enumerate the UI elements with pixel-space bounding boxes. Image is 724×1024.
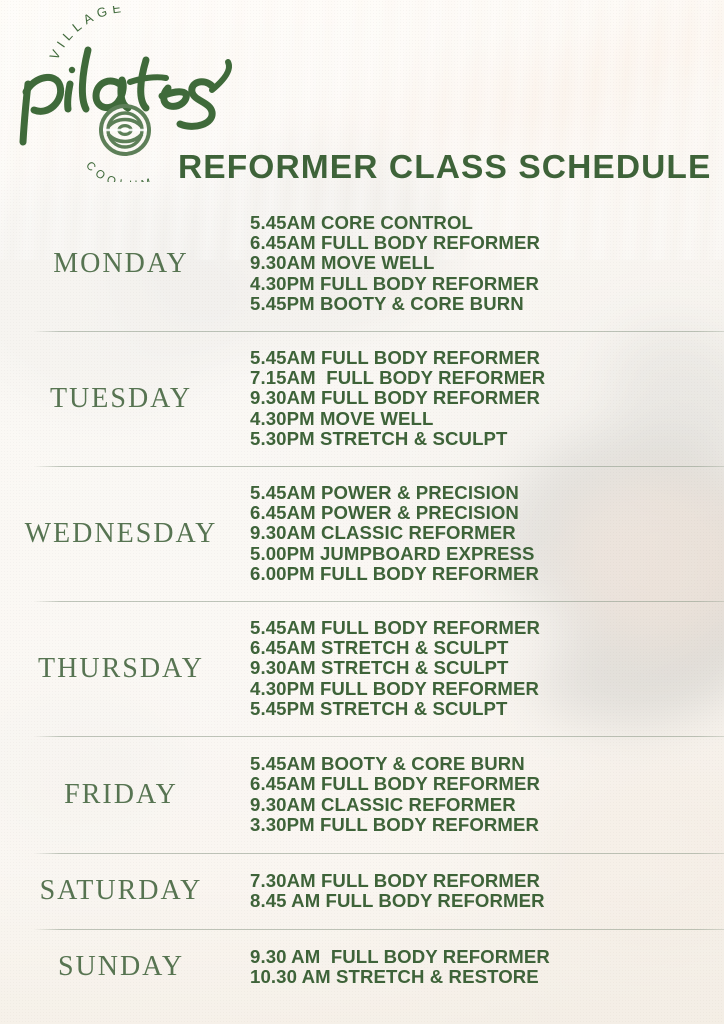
day-label: WEDNESDAY [0, 518, 242, 550]
row-divider [33, 853, 724, 854]
class-entry: 9.30AM CLASSIC REFORMER [250, 523, 724, 543]
row-divider [33, 601, 724, 602]
class-entry: 6.45AM FULL BODY REFORMER [250, 774, 724, 794]
class-entry: 5.00PM JUMPBOARD EXPRESS [250, 544, 724, 564]
class-entry: 6.45AM STRETCH & SCULPT [250, 638, 724, 658]
class-entry: 9.30 AM FULL BODY REFORMER [250, 947, 724, 967]
class-entry: 3.30PM FULL BODY REFORMER [250, 815, 724, 835]
class-list: 5.45AM CORE CONTROL6.45AM FULL BODY REFO… [242, 213, 724, 314]
day-label: THURSDAY [0, 653, 242, 685]
class-entry: 7.15AM FULL BODY REFORMER [250, 368, 724, 388]
day-label: FRIDAY [0, 779, 242, 811]
logo-script-wordmark [23, 50, 229, 142]
class-list: 5.45AM FULL BODY REFORMER6.45AM STRETCH … [242, 618, 724, 719]
class-list: 5.45AM BOOTY & CORE BURN6.45AM FULL BODY… [242, 754, 724, 835]
class-list: 5.45AM FULL BODY REFORMER7.15AM FULL BOD… [242, 348, 724, 449]
class-entry: 5.45AM FULL BODY REFORMER [250, 348, 724, 368]
day-row: WEDNESDAY5.45AM POWER & PRECISION6.45AM … [0, 466, 724, 601]
class-list: 9.30 AM FULL BODY REFORMER10.30 AM STRET… [242, 947, 724, 987]
day-label: SUNDAY [0, 951, 242, 983]
day-label: MONDAY [0, 248, 242, 280]
day-label: SATURDAY [0, 875, 242, 907]
class-entry: 5.45AM POWER & PRECISION [250, 483, 724, 503]
class-list: 7.30AM FULL BODY REFORMER8.45 AM FULL BO… [242, 871, 724, 911]
class-entry: 4.30PM FULL BODY REFORMER [250, 679, 724, 699]
class-entry: 9.30AM MOVE WELL [250, 253, 724, 273]
day-row: SATURDAY7.30AM FULL BODY REFORMER8.45 AM… [0, 853, 724, 929]
row-divider [33, 736, 724, 737]
schedule-poster: VILLAGE [0, 0, 724, 1024]
day-label: TUESDAY [0, 383, 242, 415]
day-row: SUNDAY9.30 AM FULL BODY REFORMER10.30 AM… [0, 929, 724, 1005]
day-row: THURSDAY5.45AM FULL BODY REFORMER6.45AM … [0, 601, 724, 736]
class-entry: 6.45AM POWER & PRECISION [250, 503, 724, 523]
day-row: TUESDAY5.45AM FULL BODY REFORMER7.15AM F… [0, 331, 724, 466]
logo-eye-emblem [101, 106, 149, 154]
class-entry: 5.45AM BOOTY & CORE BURN [250, 754, 724, 774]
class-entry: 7.30AM FULL BODY REFORMER [250, 871, 724, 891]
class-entry: 5.30PM STRETCH & SCULPT [250, 429, 724, 449]
class-entry: 5.45AM CORE CONTROL [250, 213, 724, 233]
class-entry: 4.30PM FULL BODY REFORMER [250, 274, 724, 294]
logo-bottom-arc-text: COOLUM [83, 160, 156, 182]
schedule-table: MONDAY5.45AM CORE CONTROL6.45AM FULL BOD… [0, 196, 724, 1005]
class-entry: 5.45PM STRETCH & SCULPT [250, 699, 724, 719]
class-entry: 9.30AM STRETCH & SCULPT [250, 658, 724, 678]
row-divider [33, 331, 724, 332]
class-entry: 9.30AM CLASSIC REFORMER [250, 795, 724, 815]
class-list: 5.45AM POWER & PRECISION6.45AM POWER & P… [242, 483, 724, 584]
class-entry: 9.30AM FULL BODY REFORMER [250, 388, 724, 408]
class-entry: 5.45PM BOOTY & CORE BURN [250, 294, 724, 314]
class-entry: 6.00PM FULL BODY REFORMER [250, 564, 724, 584]
page-title: REFORMER CLASS SCHEDULE [178, 149, 711, 187]
day-row: FRIDAY5.45AM BOOTY & CORE BURN6.45AM FUL… [0, 736, 724, 853]
class-entry: 5.45AM FULL BODY REFORMER [250, 618, 724, 638]
class-entry: 8.45 AM FULL BODY REFORMER [250, 891, 724, 911]
day-row: MONDAY5.45AM CORE CONTROL6.45AM FULL BOD… [0, 196, 724, 331]
row-divider [33, 929, 724, 930]
row-divider [33, 466, 724, 467]
class-entry: 4.30PM MOVE WELL [250, 409, 724, 429]
class-entry: 10.30 AM STRETCH & RESTORE [250, 967, 724, 987]
class-entry: 6.45AM FULL BODY REFORMER [250, 233, 724, 253]
